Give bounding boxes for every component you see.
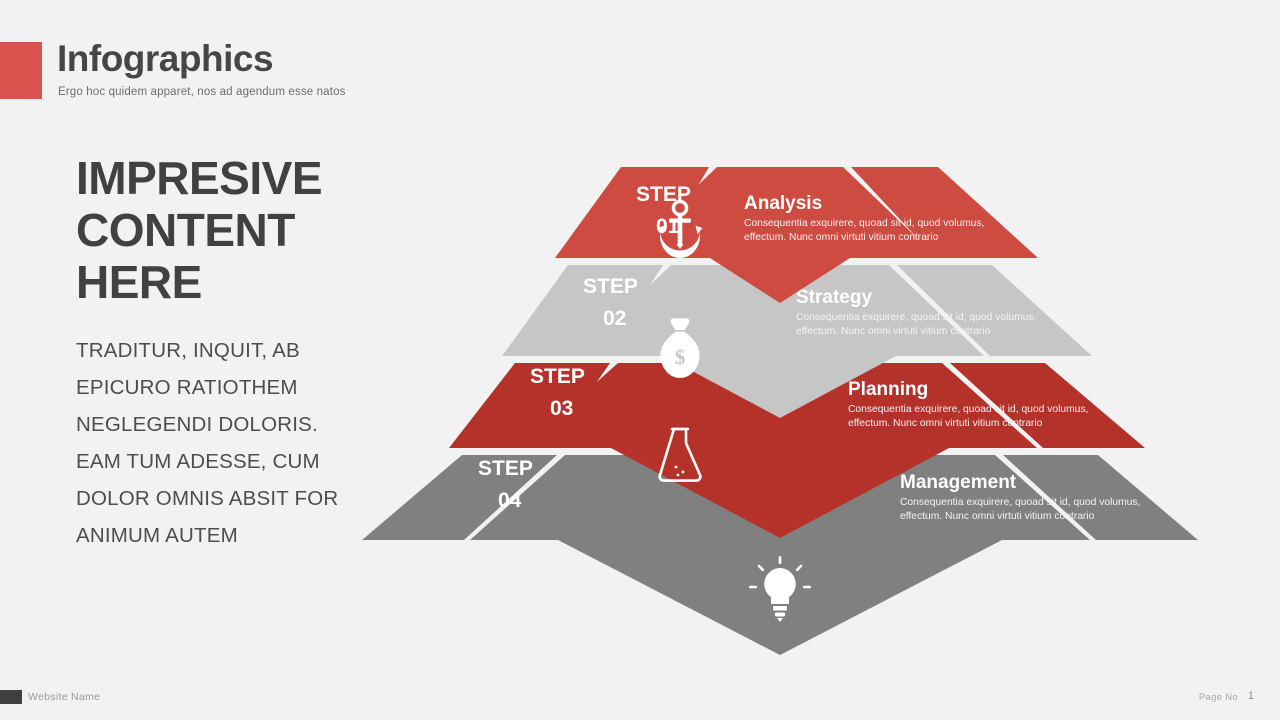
- footer-page-number: 1: [1248, 690, 1254, 702]
- layer-2-title: Strategy: [796, 287, 872, 308]
- layer-1-desc-line-2: effectum. Nunc omni virtuti vitium contr…: [744, 232, 939, 243]
- layer-3-title: Planning: [848, 379, 928, 400]
- body-line-5: DOLOR OMNIS ABSIT FOR: [76, 487, 338, 510]
- headline-line-2: CONTENT: [76, 204, 295, 256]
- layer-3-desc-line-2: effectum. Nunc omni virtuti vitium contr…: [848, 418, 1043, 429]
- layer-1-step-number: 01: [656, 215, 680, 238]
- layer-2-step-word: STEP: [583, 275, 638, 298]
- pyramid-diagram: STEP 04 Management Consequentia exquirer…: [352, 155, 1208, 675]
- body-line-2: EPICURO RATIOTHEM: [76, 376, 298, 399]
- body-line-1: TRADITUR, INQUIT, AB: [76, 339, 300, 362]
- layer-3-desc-line-1: Consequentia exquirere, quoad sit id, qu…: [848, 404, 1088, 415]
- footer-page-label: Page No: [1199, 692, 1238, 703]
- layer-1-desc-line-1: Consequentia exquirere, quoad sit id, qu…: [744, 218, 984, 229]
- page-subtitle: Ergo hoc quidem apparet, nos ad agendum …: [58, 86, 346, 98]
- layer-4-step-number: 04: [498, 489, 522, 512]
- footer-website-name: Website Name: [28, 691, 100, 703]
- layer-1-title: Analysis: [744, 193, 822, 214]
- body-line-6: ANIMUM AUTEM: [76, 524, 238, 547]
- svg-text:$: $: [675, 345, 686, 369]
- layer-2-desc-line-2: effectum. Nunc omni virtuti vitium contr…: [796, 326, 991, 337]
- headline-line-3: HERE: [76, 256, 202, 308]
- slide-header: Infographics Ergo hoc quidem apparet, no…: [0, 42, 1280, 104]
- header-accent-block: [0, 42, 42, 99]
- footer-accent-block: [0, 690, 22, 704]
- layer-4-desc-line-1: Consequentia exquirere, quoad sit id, qu…: [900, 497, 1140, 508]
- body-paragraph: TRADITUR, INQUIT, AB EPICURO RATIOTHEM N…: [76, 332, 376, 554]
- layer-2-desc-line-1: Consequentia exquirere, quoad sit id, qu…: [796, 312, 1036, 323]
- layer-3-step-number: 03: [550, 397, 573, 420]
- page-title: Infographics: [57, 38, 273, 80]
- layer-4-desc-line-2: effectum. Nunc omni virtuti vitium contr…: [900, 511, 1095, 522]
- headline-line-1: IMPRESIVE: [76, 152, 322, 204]
- body-line-3: NEGLEGENDI DOLORIS.: [76, 413, 318, 436]
- left-text-column: IMPRESIVE CONTENT HERE TRADITUR, INQUIT,…: [76, 152, 376, 554]
- body-line-4: EAM TUM ADESSE, CUM: [76, 450, 320, 473]
- layer-3-step-word: STEP: [530, 365, 585, 388]
- layer-2-step-number: 02: [603, 307, 626, 330]
- layer-4-title: Management: [900, 472, 1017, 493]
- headline: IMPRESIVE CONTENT HERE: [76, 152, 376, 308]
- layer-4-step-word: STEP: [478, 457, 533, 480]
